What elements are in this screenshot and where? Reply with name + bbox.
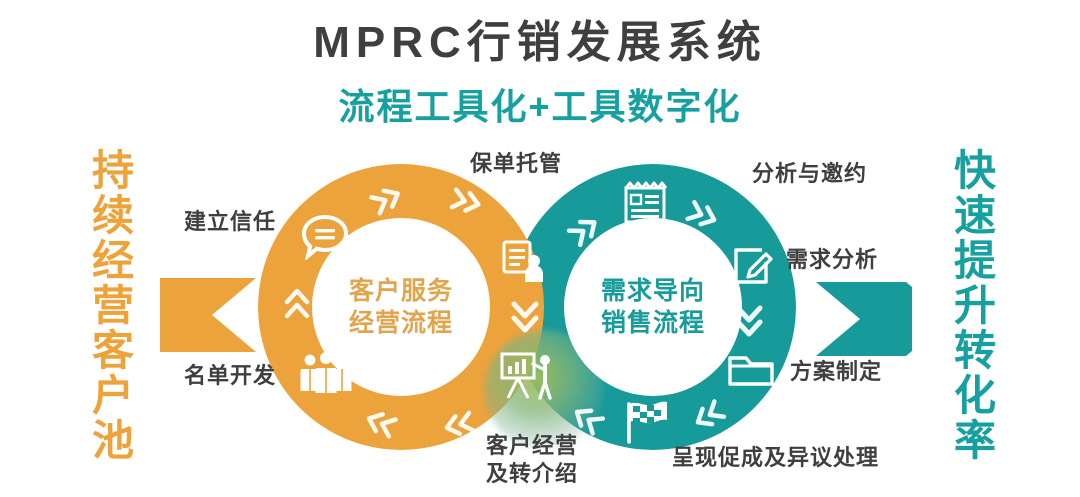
label-kehu-jingying: 客户经营 及转介绍 <box>486 432 606 488</box>
label-fenxi-yaoyue: 分析与邀约 <box>752 160 867 188</box>
label-jianli-xinren: 建立信任 <box>184 208 276 236</box>
label-kehu-jingying-line2: 及转介绍 <box>486 460 606 488</box>
right-ring-center-label: 需求导向 销售流程 <box>564 275 742 339</box>
right-ring-center-line1: 需求导向 <box>564 275 742 307</box>
dual-ring-diagram: 客户服务 经营流程 需求导向 销售流程 <box>0 0 1080 497</box>
left-ring-center-line2: 经营流程 <box>312 307 490 339</box>
label-chengxian-cuicheng: 呈现促成及异议处理 <box>672 444 879 472</box>
left-ring-center-line1: 客户服务 <box>312 275 490 307</box>
label-xuqiu-fenxi: 需求分析 <box>786 246 878 274</box>
label-baodan-tuoguan: 保单托管 <box>470 150 562 178</box>
label-fangan-zhiding: 方案制定 <box>790 358 882 386</box>
label-mingdan-kaifa: 名单开发 <box>184 362 276 390</box>
label-kehu-jingying-line1: 客户经营 <box>486 432 606 460</box>
right-ring-center-line2: 销售流程 <box>564 307 742 339</box>
infographic-canvas: MPRC行销发展系统 流程工具化+工具数字化 持续经营客户池 快速提升转化率 <box>0 0 1080 497</box>
left-ring-center-label: 客户服务 经营流程 <box>312 275 490 339</box>
